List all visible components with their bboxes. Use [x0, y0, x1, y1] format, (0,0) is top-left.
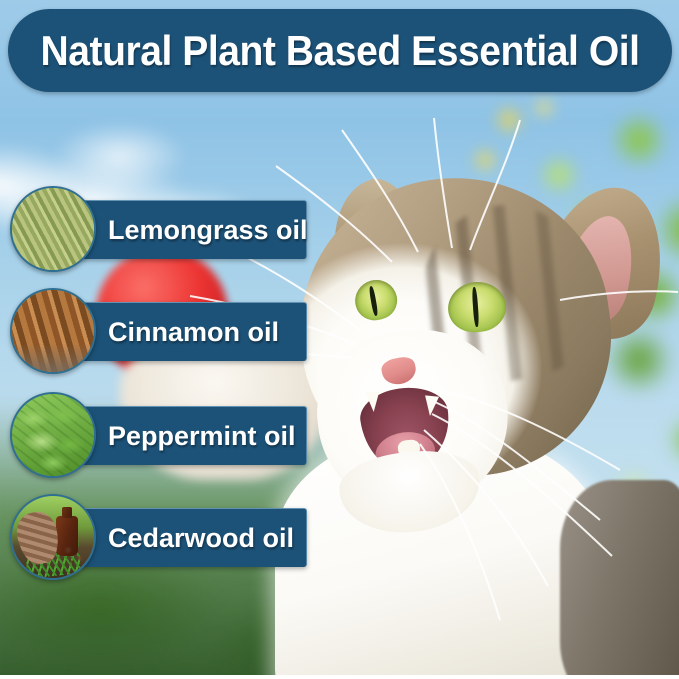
ingredient-label-text: Cinnamon oil [108, 319, 279, 346]
cat-fang-right [423, 395, 439, 416]
bottom-strip [0, 675, 679, 679]
cat-fang-left [365, 392, 380, 413]
header-banner: Natural Plant Based Essential Oil [8, 9, 672, 92]
lemongrass-thumbnail-icon [10, 186, 96, 272]
ingredient-label-bar: Cedarwood oil [80, 508, 307, 567]
ingredient-label-bar: Cinnamon oil [80, 302, 307, 361]
cedarwood-photo [12, 496, 94, 578]
ingredient-label-bar: Lemongrass oil [80, 200, 307, 259]
ingredient-label-text: Lemongrass oil [108, 217, 308, 244]
cat-flank [560, 480, 679, 679]
cinnamon-photo [12, 290, 94, 372]
ingredient-label-text: Peppermint oil [108, 423, 296, 450]
page-title: Natural Plant Based Essential Oil [41, 30, 640, 72]
lemongrass-photo [12, 188, 94, 270]
peppermint-photo [12, 394, 94, 476]
product-infographic: Natural Plant Based Essential Oil Lemong… [0, 0, 679, 679]
cinnamon-thumbnail-icon [10, 288, 96, 374]
ingredient-label-bar: Peppermint oil [80, 406, 307, 465]
ingredient-label-text: Cedarwood oil [108, 525, 294, 552]
cedarwood-thumbnail-icon [10, 494, 96, 580]
wood-chips [60, 542, 90, 568]
peppermint-thumbnail-icon [10, 392, 96, 478]
